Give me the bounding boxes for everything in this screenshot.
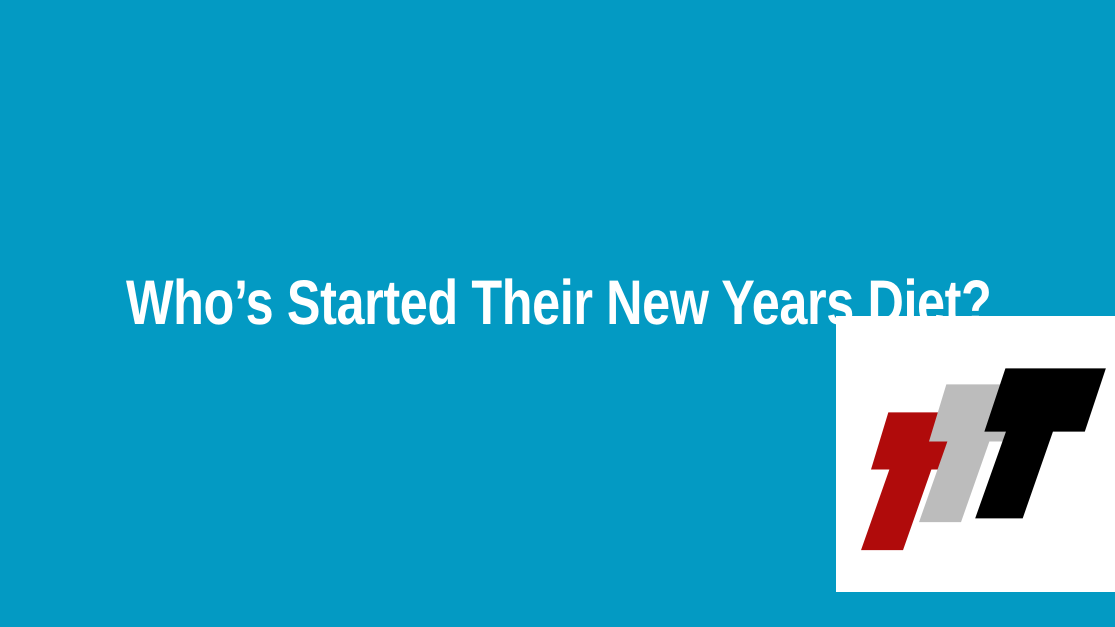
triple-t-logo [836, 316, 1115, 592]
presentation-slide: Who’s Started Their New Years Diet? [0, 0, 1115, 627]
slide-title: Who’s Started Their New Years Diet? [126, 268, 846, 338]
logo-panel [836, 316, 1115, 592]
